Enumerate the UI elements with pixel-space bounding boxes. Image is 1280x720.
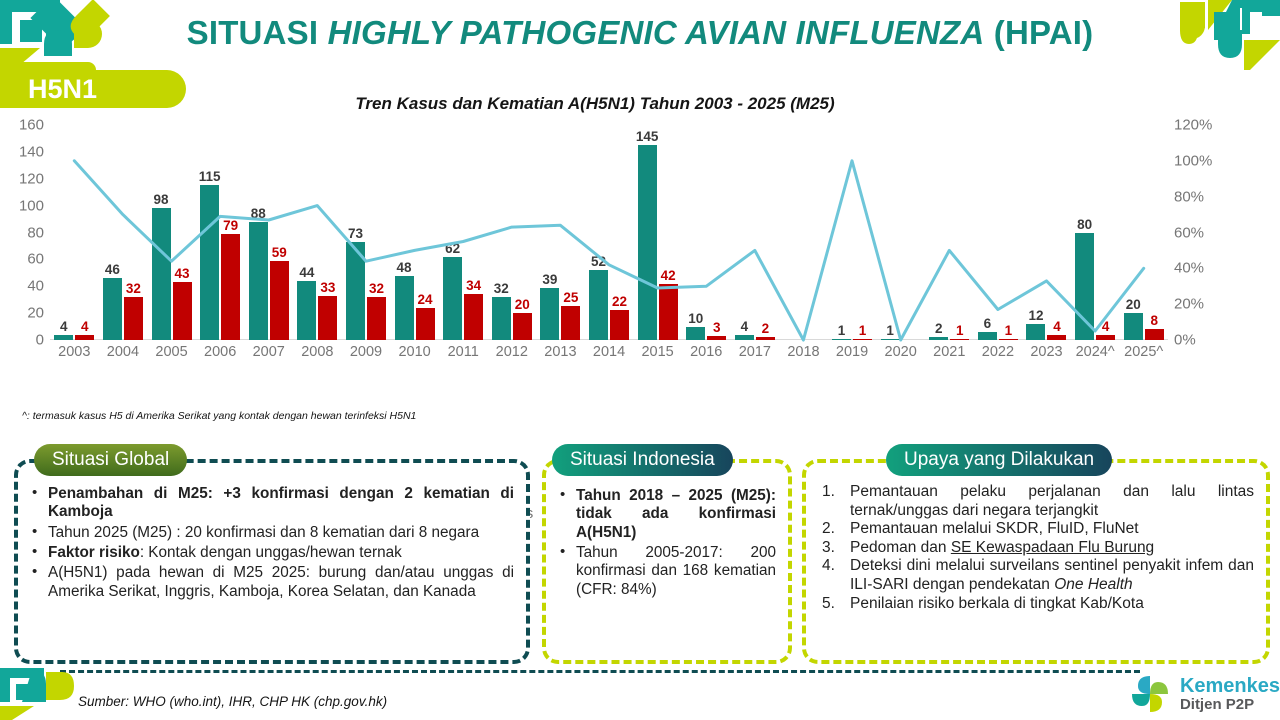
bar-group: 804 xyxy=(1071,125,1120,340)
list-item-text: Pemantauan melalui SKDR, FluID, FluNet xyxy=(850,520,1139,537)
y-tick-right: 120% xyxy=(1174,118,1218,133)
panel-upaya-content: Pemantauan pelaku perjalanan dan lalu li… xyxy=(806,463,1266,621)
bar-kasus[interactable]: 32 xyxy=(492,297,511,340)
x-tick-label: 2021 xyxy=(925,344,974,360)
x-axis: 2003200420052006200720082009201020112012… xyxy=(50,344,1168,360)
panel-global-list: Penambahan di M25: +3 konfirmasi dengan … xyxy=(28,485,514,601)
bar-value-label: 2 xyxy=(762,321,770,336)
bar-value-label: 1 xyxy=(886,323,894,338)
bar-kasus[interactable]: 73 xyxy=(346,242,365,340)
bar-value-label: 3 xyxy=(713,320,721,335)
x-tick-label: 2011 xyxy=(439,344,488,360)
panel-upaya-list: Pemantauan pelaku perjalanan dan lalu li… xyxy=(816,483,1254,613)
x-tick-label: 2013 xyxy=(536,344,585,360)
bar-pair: 14542 xyxy=(633,125,682,340)
bar-pair: 804 xyxy=(1071,125,1120,340)
bar-value-label: 1 xyxy=(956,323,964,338)
bar-kematian[interactable]: 1 xyxy=(999,339,1018,340)
bar-kematian[interactable]: 33 xyxy=(318,296,337,340)
x-tick-label: 2022 xyxy=(974,344,1023,360)
bar-pair xyxy=(779,125,828,340)
bar-group: 6234 xyxy=(439,125,488,340)
list-item-text: Pedoman dan xyxy=(850,539,951,556)
x-tick-label: 2023 xyxy=(1022,344,1071,360)
list-item-link[interactable]: SE Kewaspadaan Flu Burung xyxy=(951,539,1154,556)
x-tick-label: 2017 xyxy=(731,344,780,360)
plot-area: 4446329843115798859443373324824623432203… xyxy=(50,125,1168,340)
bar-kematian[interactable]: 43 xyxy=(173,282,192,340)
bar-value-label: 10 xyxy=(688,311,703,326)
x-tick-label: 2004 xyxy=(99,344,148,360)
y-tick-right: 80% xyxy=(1174,189,1218,204)
bar-kasus[interactable]: 46 xyxy=(103,278,122,340)
list-item-italic: One Health xyxy=(1054,576,1132,593)
bar-value-label: 145 xyxy=(636,129,659,144)
bar-group: 5222 xyxy=(585,125,634,340)
bar-group: 3925 xyxy=(536,125,585,340)
panel-global-title: Situasi Global xyxy=(34,444,187,476)
panel-global-box: Penambahan di M25: +3 konfirmasi dengan … xyxy=(14,459,530,664)
bar-kasus[interactable]: 4 xyxy=(735,335,754,340)
x-tick-label: 2008 xyxy=(293,344,342,360)
bar-kematian[interactable]: 8 xyxy=(1145,329,1164,340)
bar-pair: 8859 xyxy=(244,125,293,340)
bar-pair: 7332 xyxy=(342,125,391,340)
list-item: Tahun 2018 – 2025 (M25): tidak ada konfi… xyxy=(556,487,776,542)
decor-logo-top-left xyxy=(0,0,130,70)
list-item: Faktor risiko: Kontak dengan unggas/hewa… xyxy=(28,544,514,562)
y-tick-left: 20 xyxy=(0,306,44,321)
list-item-text: Pemantauan pelaku perjalanan dan lalu li… xyxy=(850,483,1254,519)
list-item: Pemantauan melalui SKDR, FluID, FluNet xyxy=(816,520,1254,539)
bar-kasus[interactable]: 145 xyxy=(638,145,657,340)
y-tick-left: 40 xyxy=(0,279,44,294)
list-item-bold: Faktor risiko xyxy=(48,544,140,561)
bar-value-label: 22 xyxy=(612,294,627,309)
bar-value-label: 39 xyxy=(542,272,557,287)
list-item-text: Deteksi dini melalui surveilans sentinel… xyxy=(850,557,1254,593)
y-tick-left: 60 xyxy=(0,252,44,267)
bar-group: 11579 xyxy=(196,125,245,340)
chart: 020406080100120140160 0%20%40%60%80%100%… xyxy=(0,125,1280,360)
bar-value-label: 48 xyxy=(397,260,412,275)
bar-kasus[interactable]: 4 xyxy=(54,335,73,340)
bar-kasus[interactable]: 1 xyxy=(832,339,851,340)
y-axis-left: 020406080100120140160 xyxy=(0,125,44,340)
bar-kasus[interactable]: 80 xyxy=(1075,233,1094,341)
bar-kematian[interactable]: 1 xyxy=(853,339,872,340)
bar-value-label: 59 xyxy=(272,245,287,260)
bar-kematian[interactable]: 3 xyxy=(707,336,726,340)
bar-group: 21 xyxy=(925,125,974,340)
list-item-text: A(H5N1) pada hewan di M25 2025: burung d… xyxy=(48,564,514,599)
list-item-text: : Kontak dengan unggas/hewan ternak xyxy=(140,544,402,561)
bar-value-label: 88 xyxy=(251,206,266,221)
panel-indonesia-list: Tahun 2018 – 2025 (M25): tidak ada konfi… xyxy=(556,487,776,599)
bar-pair: 103 xyxy=(682,125,731,340)
bar-group: 8859 xyxy=(244,125,293,340)
chart-title: Tren Kasus dan Kematian A(H5N1) Tahun 20… xyxy=(0,94,1190,114)
panel-indonesia-box: Tahun 2018 – 2025 (M25): tidak ada konfi… xyxy=(542,459,792,664)
panel-situasi-global: Penambahan di M25: +3 konfirmasi dengan … xyxy=(14,444,530,664)
bar-kasus[interactable]: 12 xyxy=(1026,324,1045,340)
bar-group: 7332 xyxy=(342,125,391,340)
bar-kasus[interactable]: 2 xyxy=(929,337,948,340)
bar-kasus[interactable]: 1 xyxy=(881,339,900,340)
bar-value-label: 34 xyxy=(466,278,481,293)
bar-pair: 1 xyxy=(876,125,925,340)
y-tick-left: 140 xyxy=(0,144,44,159)
bar-pair: 124 xyxy=(1022,125,1071,340)
bar-kasus[interactable]: 52 xyxy=(589,270,608,340)
bar-pair: 4632 xyxy=(99,125,148,340)
bar-pair: 4824 xyxy=(390,125,439,340)
bar-group: 9843 xyxy=(147,125,196,340)
bar-kematian[interactable]: 20 xyxy=(513,313,532,340)
bar-pair: 3220 xyxy=(487,125,536,340)
panel-situasi-indonesia: Tahun 2018 – 2025 (M25): tidak ada konfi… xyxy=(542,444,792,664)
list-item: Pedoman dan SE Kewaspadaan Flu Burung xyxy=(816,539,1254,558)
x-tick-label: 2003 xyxy=(50,344,99,360)
x-tick-label: 2009 xyxy=(342,344,391,360)
bar-group: 42 xyxy=(731,125,780,340)
bar-kematian[interactable]: 4 xyxy=(75,335,94,340)
bar-kasus[interactable]: 88 xyxy=(249,222,268,340)
bar-value-label: 20 xyxy=(515,297,530,312)
bar-pair: 11 xyxy=(828,125,877,340)
y-tick-left: 0 xyxy=(0,333,44,348)
x-tick-label: 2010 xyxy=(390,344,439,360)
y-tick-left: 80 xyxy=(0,225,44,240)
y-tick-left: 100 xyxy=(0,198,44,213)
bar-value-label: 80 xyxy=(1077,217,1092,232)
bar-group: 11 xyxy=(828,125,877,340)
y-tick-right: 20% xyxy=(1174,297,1218,312)
bar-value-label: 44 xyxy=(299,265,314,280)
kemenkes-logo: Kemenkes Ditjen P2P xyxy=(1128,672,1280,716)
bar-value-label: 1 xyxy=(838,323,846,338)
chart-footnote: ^: termasuk kasus H5 di Amerika Serikat … xyxy=(22,410,416,422)
bar-pair: 9843 xyxy=(147,125,196,340)
list-item: Tahun 2005-2017: 200 konfirmasi dan 168 … xyxy=(556,544,776,599)
x-tick-label: 2019 xyxy=(828,344,877,360)
bar-pair: 3925 xyxy=(536,125,585,340)
page-title: SITUASI HIGHLY PATHOGENIC AVIAN INFLUENZ… xyxy=(140,14,1140,52)
bar-value-label: 1 xyxy=(859,323,867,338)
bar-group: 3220 xyxy=(487,125,536,340)
page-title-suffix: (HPAI) xyxy=(984,14,1093,51)
bar-pair: 21 xyxy=(925,125,974,340)
x-tick-label: 2014 xyxy=(585,344,634,360)
bar-value-label: 20 xyxy=(1126,297,1141,312)
bar-kematian[interactable]: 4 xyxy=(1047,335,1066,340)
list-item: Tahun 2025 (M25) : 20 konfirmasi dan 8 k… xyxy=(28,524,514,542)
panel-global-content: Penambahan di M25: +3 konfirmasi dengan … xyxy=(18,463,526,611)
x-tick-label: 2024^ xyxy=(1071,344,1120,360)
bar-value-label: 73 xyxy=(348,226,363,241)
decor-logo-top-right xyxy=(1180,0,1280,70)
list-item: A(H5N1) pada hewan di M25 2025: burung d… xyxy=(28,564,514,601)
bar-kematian[interactable]: 42 xyxy=(659,284,678,340)
x-tick-label: 2016 xyxy=(682,344,731,360)
bar-value-label: 4 xyxy=(1053,319,1061,334)
bar-value-label: 4 xyxy=(741,319,749,334)
bar-kematian[interactable]: 24 xyxy=(416,308,435,340)
bar-pair: 6234 xyxy=(439,125,488,340)
list-item: Penilaian risiko berkala di tingkat Kab/… xyxy=(816,595,1254,614)
bar-value-label: 62 xyxy=(445,241,460,256)
bar-value-label: 24 xyxy=(418,292,433,307)
x-tick-label: 2012 xyxy=(487,344,536,360)
y-tick-right: 0% xyxy=(1174,333,1218,348)
x-tick-label: 2018 xyxy=(779,344,828,360)
bar-kasus[interactable]: 98 xyxy=(152,208,171,340)
decor-logo-bottom-left xyxy=(0,668,80,720)
bar-kematian[interactable]: 1 xyxy=(950,339,969,340)
bar-pair: 44 xyxy=(50,125,99,340)
bar-value-label: 46 xyxy=(105,262,120,277)
bar-kematian[interactable]: 79 xyxy=(221,234,240,340)
bar-group: 4433 xyxy=(293,125,342,340)
kemenkes-sub: Ditjen P2P xyxy=(1180,697,1280,713)
list-item-text: Tahun 2005-2017: 200 konfirmasi dan 168 … xyxy=(576,544,776,598)
bar-group: 1 xyxy=(876,125,925,340)
list-item-text: Penilaian risiko berkala di tingkat Kab/… xyxy=(850,595,1144,612)
bar-group: 4632 xyxy=(99,125,148,340)
bar-value-label: 79 xyxy=(223,218,238,233)
bar-group: 124 xyxy=(1022,125,1071,340)
bar-value-label: 25 xyxy=(563,290,578,305)
bar-kasus[interactable]: 44 xyxy=(297,281,316,340)
bar-kasus[interactable]: 6 xyxy=(978,332,997,340)
bar-group: 44 xyxy=(50,125,99,340)
bar-value-label: 12 xyxy=(1028,308,1043,323)
x-tick-label: 2005 xyxy=(147,344,196,360)
bar-value-label: 32 xyxy=(369,281,384,296)
bar-pair: 42 xyxy=(731,125,780,340)
bar-kasus[interactable]: 20 xyxy=(1124,313,1143,340)
bar-value-label: 32 xyxy=(494,281,509,296)
bar-kasus[interactable]: 48 xyxy=(395,276,414,341)
bar-group: 14542 xyxy=(633,125,682,340)
list-item: Penambahan di M25: +3 konfirmasi dengan … xyxy=(28,485,514,522)
bar-kematian[interactable]: 32 xyxy=(367,297,386,340)
bar-kematian[interactable]: 32 xyxy=(124,297,143,340)
x-tick-label: 2020 xyxy=(876,344,925,360)
bar-pair: 5222 xyxy=(585,125,634,340)
bar-value-label: 32 xyxy=(126,281,141,296)
footer-divider xyxy=(60,670,1140,673)
panel-upaya-title: Upaya yang Dilakukan xyxy=(886,444,1112,476)
y-tick-right: 60% xyxy=(1174,225,1218,240)
panel-upaya-box: Pemantauan pelaku perjalanan dan lalu li… xyxy=(802,459,1270,664)
bar-value-label: 4 xyxy=(81,319,89,334)
bar-value-label: 6 xyxy=(984,316,992,331)
x-tick-label: 2006 xyxy=(196,344,245,360)
bar-kasus[interactable]: 115 xyxy=(200,185,219,340)
bar-kematian[interactable]: 59 xyxy=(270,261,289,340)
x-tick-label: 2015 xyxy=(633,344,682,360)
y-tick-left: 160 xyxy=(0,118,44,133)
panel-indonesia-title: Situasi Indonesia xyxy=(552,444,733,476)
bar-pair: 61 xyxy=(974,125,1023,340)
list-item: Pemantauan pelaku perjalanan dan lalu li… xyxy=(816,483,1254,520)
bar-kasus[interactable]: 39 xyxy=(540,288,559,340)
footer-source: Sumber: WHO (who.int), IHR, CHP HK (chp.… xyxy=(78,694,387,709)
bar-value-label: 115 xyxy=(199,169,221,184)
bar-pair: 11579 xyxy=(196,125,245,340)
y-axis-right: 0%20%40%60%80%100%120% xyxy=(1174,125,1218,340)
page-title-italic: HIGHLY PATHOGENIC AVIAN INFLUENZA xyxy=(328,14,985,51)
list-item-bold: Tahun 2018 – 2025 (M25): tidak ada konfi… xyxy=(576,487,776,541)
x-tick-label: 2025^ xyxy=(1119,344,1168,360)
list-item: Deteksi dini melalui surveilans sentinel… xyxy=(816,557,1254,594)
y-tick-left: 120 xyxy=(0,171,44,186)
bar-value-label: 8 xyxy=(1150,313,1158,328)
bar-pair: 208 xyxy=(1119,125,1168,340)
bar-value-label: 43 xyxy=(175,266,190,281)
bar-value-label: 1 xyxy=(1005,323,1013,338)
bar-value-label: 52 xyxy=(591,254,606,269)
bar-value-label: 42 xyxy=(661,268,676,283)
y-tick-right: 40% xyxy=(1174,261,1218,276)
bar-columns: 4446329843115798859443373324824623432203… xyxy=(50,125,1168,340)
bar-kasus[interactable]: 10 xyxy=(686,327,705,340)
bar-value-label: 4 xyxy=(1102,319,1110,334)
list-item-bold: Penambahan di M25: +3 konfirmasi dengan … xyxy=(48,485,514,520)
kemenkes-name: Kemenkes xyxy=(1180,676,1280,697)
bar-value-label: 2 xyxy=(935,321,943,336)
bar-group: 4824 xyxy=(390,125,439,340)
bar-kasus[interactable]: 62 xyxy=(443,257,462,340)
bar-kematian[interactable]: 2 xyxy=(756,337,775,340)
bar-group xyxy=(779,125,828,340)
bar-kematian[interactable]: 34 xyxy=(464,294,483,340)
bar-pair: 4433 xyxy=(293,125,342,340)
y-tick-right: 100% xyxy=(1174,153,1218,168)
page-title-prefix: SITUASI xyxy=(187,14,328,51)
bar-kematian[interactable]: 25 xyxy=(561,306,580,340)
panel-upaya-dilakukan: Pemantauan pelaku perjalanan dan lalu li… xyxy=(802,444,1270,664)
bar-group: 103 xyxy=(682,125,731,340)
bar-group: 61 xyxy=(974,125,1023,340)
panel-indonesia-content: Tahun 2018 – 2025 (M25): tidak ada konfi… xyxy=(546,463,788,609)
kemenkes-mark-icon xyxy=(1128,672,1174,716)
bar-kematian[interactable]: 4 xyxy=(1096,335,1115,340)
bar-value-label: 4 xyxy=(60,319,68,334)
bar-value-label: 98 xyxy=(154,192,169,207)
x-tick-label: 2007 xyxy=(244,344,293,360)
bar-group: 208 xyxy=(1119,125,1168,340)
bar-kematian[interactable]: 22 xyxy=(610,310,629,340)
bar-value-label: 33 xyxy=(320,280,335,295)
list-item-text: Tahun 2025 (M25) : 20 konfirmasi dan 8 k… xyxy=(48,524,479,541)
